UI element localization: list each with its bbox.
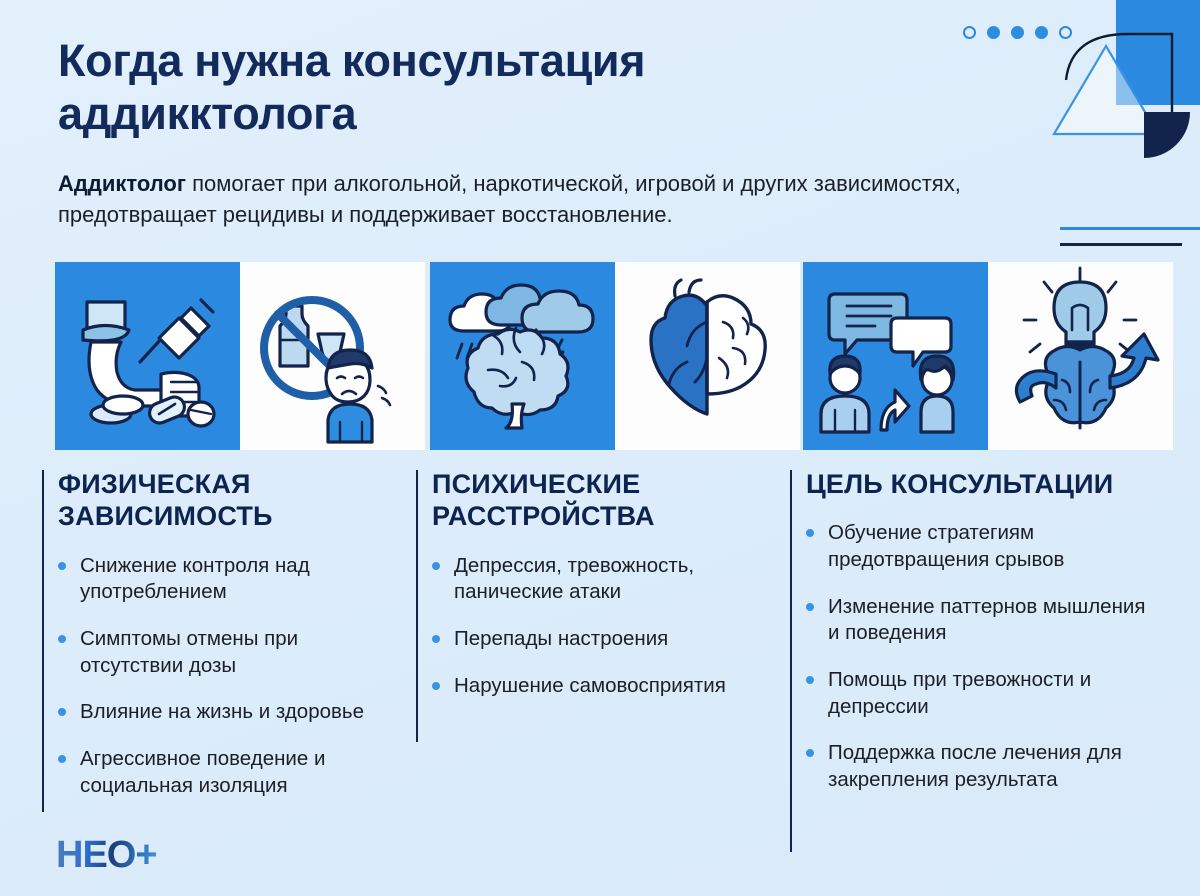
dot-filled-icon (987, 26, 1000, 39)
list-item-text: Агрессивное поведение и социальная изоля… (80, 747, 325, 797)
bullet-dot-icon (432, 562, 440, 570)
bullet-dot-icon (806, 603, 814, 611)
bullet-dot-icon (58, 755, 66, 763)
dot-outline-icon (963, 26, 976, 39)
bullet-list: Депрессия, тревожность, панические атаки… (432, 553, 777, 700)
column-heading: ФИЗИЧЕСКАЯ ЗАВИСИМОСТЬ (58, 468, 398, 533)
list-item: Перепады настроения (432, 626, 777, 653)
list-item-text: Симптомы отмены при отсутствии дозы (80, 627, 298, 677)
list-item: Депрессия, тревожность, панические атаки (432, 553, 777, 606)
intro-paragraph: Аддиктолог помогает при алкогольной, нар… (58, 168, 1098, 230)
list-item-text: Депрессия, тревожность, панические атаки (454, 554, 694, 604)
half-circle-decor (1140, 108, 1192, 160)
intro-rest-text: помогает при алкогольной, наркотической,… (58, 171, 961, 227)
infographic-page: Когда нужна консультация аддикктолога Ад… (0, 0, 1200, 896)
column-divider (790, 470, 792, 852)
intro-bold-term: Аддиктолог (58, 171, 186, 196)
column-heading: ЦЕЛЬ КОНСУЛЬТАЦИИ (806, 468, 1156, 500)
list-item-text: Обучение стратегиям предотвращения срыво… (828, 521, 1064, 571)
bullet-dot-icon (806, 749, 814, 757)
list-item: Симптомы отмены при отсутствии дозы (58, 626, 398, 679)
image-strip-mental (430, 262, 800, 450)
image-strip-physical (55, 262, 425, 450)
list-item-text: Изменение паттернов мышления и поведения (828, 595, 1145, 645)
people-speech-bubbles-icon (803, 262, 988, 450)
list-item: Обучение стратегиям предотвращения срыво… (806, 520, 1156, 573)
list-item-text: Влияние на жизнь и здоровье (80, 700, 364, 723)
page-title: Когда нужна консультация аддикктолога (58, 34, 898, 140)
bullet-list: Обучение стратегиям предотвращения срыво… (806, 520, 1156, 793)
accent-rule-navy (1060, 243, 1182, 246)
column-physical-dependence: ФИЗИЧЕСКАЯ ЗАВИСИМОСТЬ Снижение контроля… (58, 468, 398, 819)
column-heading: ПСИХИЧЕСКИЕ РАССТРОЙСТВА (432, 468, 777, 533)
list-item: Помощь при тревожности и депрессии (806, 667, 1156, 720)
list-item: Нарушение самовосприятия (432, 673, 777, 700)
bullet-dot-icon (58, 635, 66, 643)
dot-filled-icon (1011, 26, 1024, 39)
bullet-dot-icon (806, 529, 814, 537)
list-item-text: Поддержка после лечения для закрепления … (828, 741, 1122, 791)
list-item: Агрессивное поведение и социальная изоля… (58, 746, 398, 799)
bullet-dot-icon (432, 635, 440, 643)
list-item: Изменение паттернов мышления и поведения (806, 594, 1156, 647)
bullet-dot-icon (58, 562, 66, 570)
list-item-text: Помощь при тревожности и депрессии (828, 668, 1091, 718)
list-item: Влияние на жизнь и здоровье (58, 699, 398, 726)
brain-lightbulb-arrows-icon (988, 262, 1173, 450)
dot-filled-icon (1035, 26, 1048, 39)
heart-brain-split-icon (615, 262, 800, 450)
column-consultation-goal: ЦЕЛЬ КОНСУЛЬТАЦИИ Обучение стратегиям пр… (806, 468, 1156, 814)
column-mental-disorders: ПСИХИЧЕСКИЕ РАССТРОЙСТВА Депрессия, трев… (432, 468, 777, 719)
bullet-dot-icon (432, 682, 440, 690)
list-item-text: Нарушение самовосприятия (454, 674, 726, 697)
column-divider (416, 470, 418, 742)
arm-syringe-pills-icon (55, 262, 240, 450)
bullet-dot-icon (58, 708, 66, 716)
dot-row-decor (963, 26, 1072, 39)
storm-cloud-brain-icon (430, 262, 615, 450)
list-item-text: Перепады настроения (454, 627, 668, 650)
list-item: Снижение контроля над употреблением (58, 553, 398, 606)
list-item: Поддержка после лечения для закрепления … (806, 740, 1156, 793)
no-alcohol-sad-person-icon (240, 262, 425, 450)
column-divider (42, 470, 44, 812)
image-strip-goal (803, 262, 1173, 450)
brand-logo: НЕО+ (56, 836, 157, 874)
list-item-text: Снижение контроля над употреблением (80, 554, 310, 604)
bullet-list: Снижение контроля над употреблением Симп… (58, 553, 398, 799)
bullet-dot-icon (806, 676, 814, 684)
